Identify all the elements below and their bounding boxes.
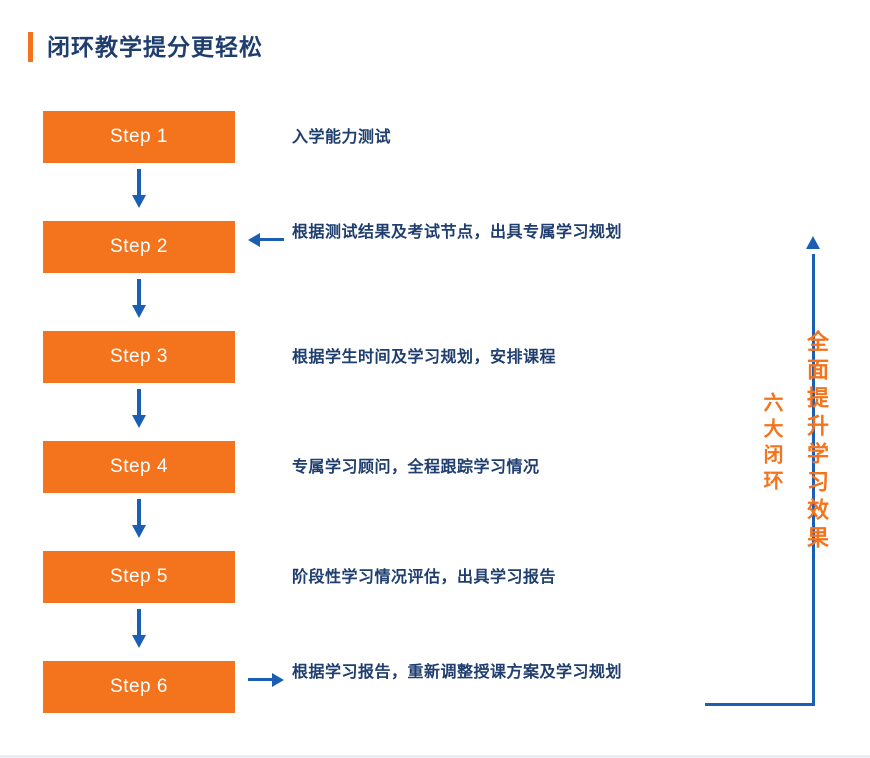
step-box-5[interactable]: Step 5 xyxy=(43,551,235,603)
step-desc-5: 阶段性学习情况评估，出具学习报告 xyxy=(292,563,692,593)
page-title: 闭环教学提分更轻松 xyxy=(28,32,263,62)
diagram-canvas: 闭环教学提分更轻松 Step 1 Step 2 Step 3 Step 4 St… xyxy=(0,0,870,758)
step-box-3[interactable]: Step 3 xyxy=(43,331,235,383)
step-desc-1: 入学能力测试 xyxy=(292,123,692,153)
title-accent-bar xyxy=(28,32,33,62)
step-box-4[interactable]: Step 4 xyxy=(43,441,235,493)
step-box-6[interactable]: Step 6 xyxy=(43,661,235,713)
down-arrow-icon-4-5 xyxy=(132,499,146,539)
arrow-up-icon-loop xyxy=(806,236,820,249)
loop-horizontal-line xyxy=(705,703,815,706)
step-desc-4: 专属学习顾问，全程跟踪学习情况 xyxy=(292,453,692,483)
step-box-1[interactable]: Step 1 xyxy=(43,111,235,163)
down-arrow-icon-5-6 xyxy=(132,609,146,649)
vertical-label-loop: 六大闭环 xyxy=(757,392,786,496)
arrow-left-icon-step2 xyxy=(248,232,284,248)
step-desc-6: 根据学习报告，重新调整授课方案及学习规划 xyxy=(292,658,692,688)
title-text: 闭环教学提分更轻松 xyxy=(47,32,263,62)
step-desc-2: 根据测试结果及考试节点，出具专属学习规划 xyxy=(292,218,692,248)
vertical-label-effect: 全面提升学习效果 xyxy=(800,330,832,554)
arrow-right-icon-step6 xyxy=(248,672,284,688)
step-desc-3: 根据学生时间及学习规划，安排课程 xyxy=(292,343,692,373)
down-arrow-icon-3-4 xyxy=(132,389,146,429)
down-arrow-icon-2-3 xyxy=(132,279,146,319)
down-arrow-icon-1-2 xyxy=(132,169,146,209)
step-box-2[interactable]: Step 2 xyxy=(43,221,235,273)
